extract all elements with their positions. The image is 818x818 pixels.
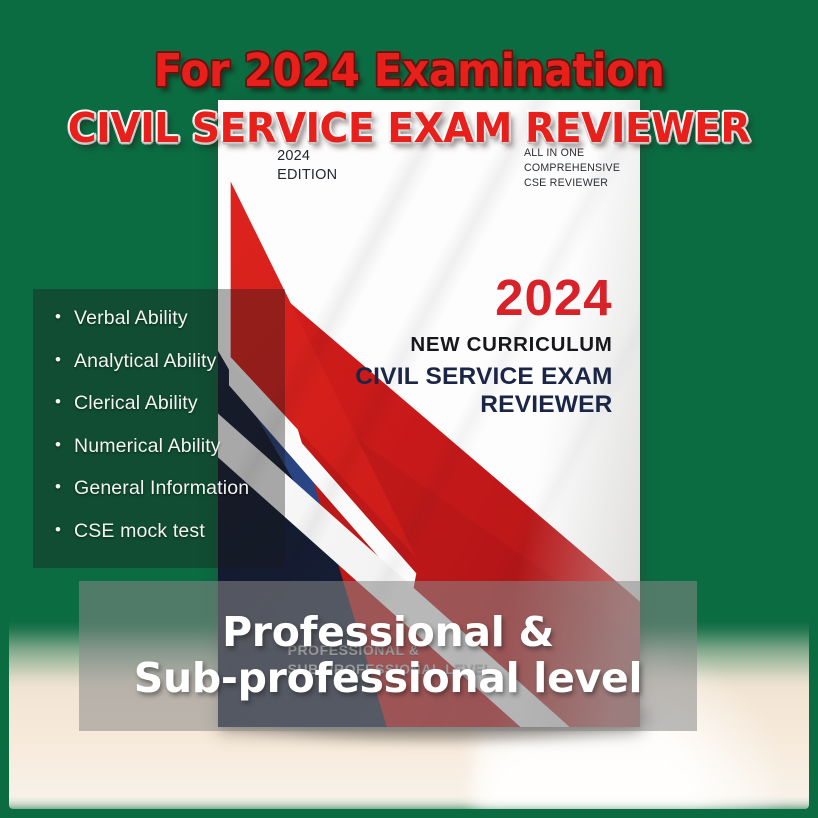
list-item-label: Verbal Ability	[74, 307, 188, 330]
level-banner: Professional & Sub-professional level	[79, 581, 697, 731]
list-item-label: General Information	[74, 477, 249, 500]
cover-year-label: 2024	[355, 272, 612, 323]
bullet-icon: •	[55, 478, 67, 495]
cover-curriculum-label: NEW CURRICULUM	[355, 334, 612, 357]
list-item-label: Numerical Ability	[74, 435, 221, 458]
features-list-panel: • Verbal Ability • Analytical Ability • …	[33, 289, 285, 568]
cover-title-block: 2024 NEW CURRICULUM CIVIL SERVICE EXAM R…	[355, 272, 612, 418]
bullet-icon: •	[55, 521, 67, 538]
list-item-label: Clerical Ability	[74, 392, 198, 415]
list-item: • Analytical Ability	[55, 350, 285, 373]
promo-headline-main: CIVIL SERVICE EXAM REVIEWER	[16, 104, 801, 152]
bullet-icon: •	[55, 308, 67, 325]
bullet-icon: •	[55, 393, 67, 410]
cover-edition-label: 2024 EDITION	[277, 147, 337, 184]
cover-main-title: CIVIL SERVICE EXAM REVIEWER	[355, 363, 612, 419]
list-item: • Verbal Ability	[55, 307, 285, 330]
promo-card: 2024 EDITION ALL IN ONE COMPREHENSIVE CS…	[0, 0, 818, 818]
list-item: • Numerical Ability	[55, 435, 285, 458]
list-item: • Clerical Ability	[55, 392, 285, 415]
cover-badge-label: ALL IN ONE COMPREHENSIVE CSE REVIEWER	[524, 146, 620, 191]
list-item-label: Analytical Ability	[74, 350, 217, 373]
level-banner-line-1: Professional &	[222, 610, 554, 656]
bullet-icon: •	[55, 436, 67, 453]
list-item-label: CSE mock test	[74, 520, 205, 543]
list-item: • CSE mock test	[55, 520, 285, 543]
level-banner-line-2: Sub-professional level	[134, 656, 643, 702]
promo-headline-top: For 2024 Examination	[25, 44, 794, 97]
bullet-icon: •	[55, 351, 67, 368]
list-item: • General Information	[55, 477, 285, 500]
